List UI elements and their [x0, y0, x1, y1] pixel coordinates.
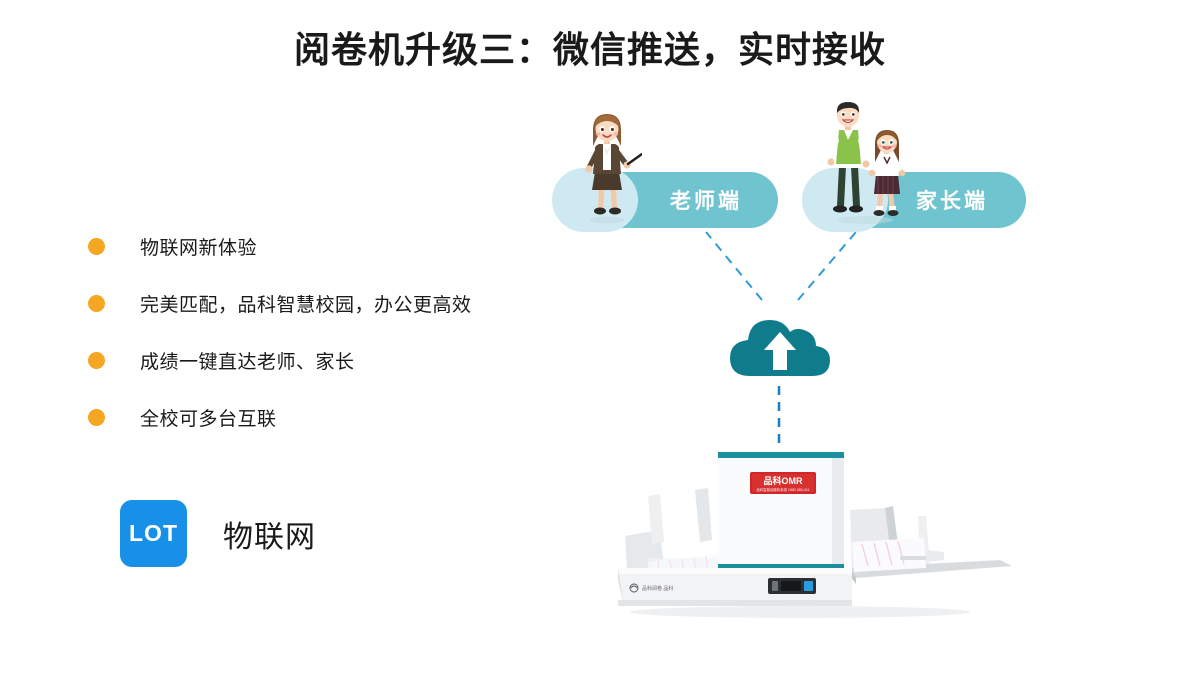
- svg-text:品科OMR: 品科OMR: [764, 475, 803, 486]
- list-item-label: 完美匹配，品科智慧校园，办公更高效: [140, 290, 472, 317]
- connector-cloud-to-parent: [798, 232, 856, 300]
- endpoint-pill-parent-label: 家长端: [916, 185, 988, 215]
- lot-badge-label: LOT: [129, 520, 178, 547]
- list-item: 完美匹配，品科智慧校园，办公更高效: [88, 275, 558, 332]
- list-item: 成绩一键直达老师、家长: [88, 332, 558, 389]
- slide-canvas: 阅卷机升级三：微信推送，实时接收 物联网新体验 完美匹配，品科智慧校园，办公更高…: [0, 0, 1180, 681]
- cloud-upload-icon: [724, 296, 834, 382]
- iot-badge-group: LOT 物联网: [120, 500, 316, 567]
- list-item: 全校可多台互联: [88, 389, 558, 446]
- list-item-label: 物联网新体验: [140, 233, 257, 260]
- iot-label: 物联网: [223, 512, 316, 556]
- svg-text:品科智能阅卷机系统 OMR-380-401: 品科智能阅卷机系统 OMR-380-401: [757, 487, 810, 492]
- parent-child-figure-icon: [820, 100, 890, 215]
- list-item: 物联网新体验: [88, 218, 558, 275]
- iot-flow-diagram: 老师端 家长端: [520, 0, 1180, 681]
- connector-cloud-to-teacher: [706, 232, 762, 300]
- list-item-label: 全校可多台互联: [140, 404, 277, 431]
- list-item-label: 成绩一键直达老师、家长: [140, 347, 355, 374]
- omr-scanner-icon: 品科OMR 品科智能阅卷机系统 OMR-380-401 品科阅卷 品科: [600, 440, 1020, 620]
- lot-badge: LOT: [120, 500, 187, 567]
- bullet-dot-icon: [88, 238, 105, 255]
- bullet-dot-icon: [88, 409, 105, 426]
- endpoint-pill-teacher-label: 老师端: [670, 185, 742, 215]
- bullet-dot-icon: [88, 295, 105, 312]
- feature-bullet-list: 物联网新体验 完美匹配，品科智慧校园，办公更高效 成绩一键直达老师、家长 全校可…: [88, 218, 558, 446]
- svg-text:品科阅卷 品科: 品科阅卷 品科: [642, 585, 673, 592]
- bullet-dot-icon: [88, 352, 105, 369]
- teacher-figure-icon: [572, 110, 642, 225]
